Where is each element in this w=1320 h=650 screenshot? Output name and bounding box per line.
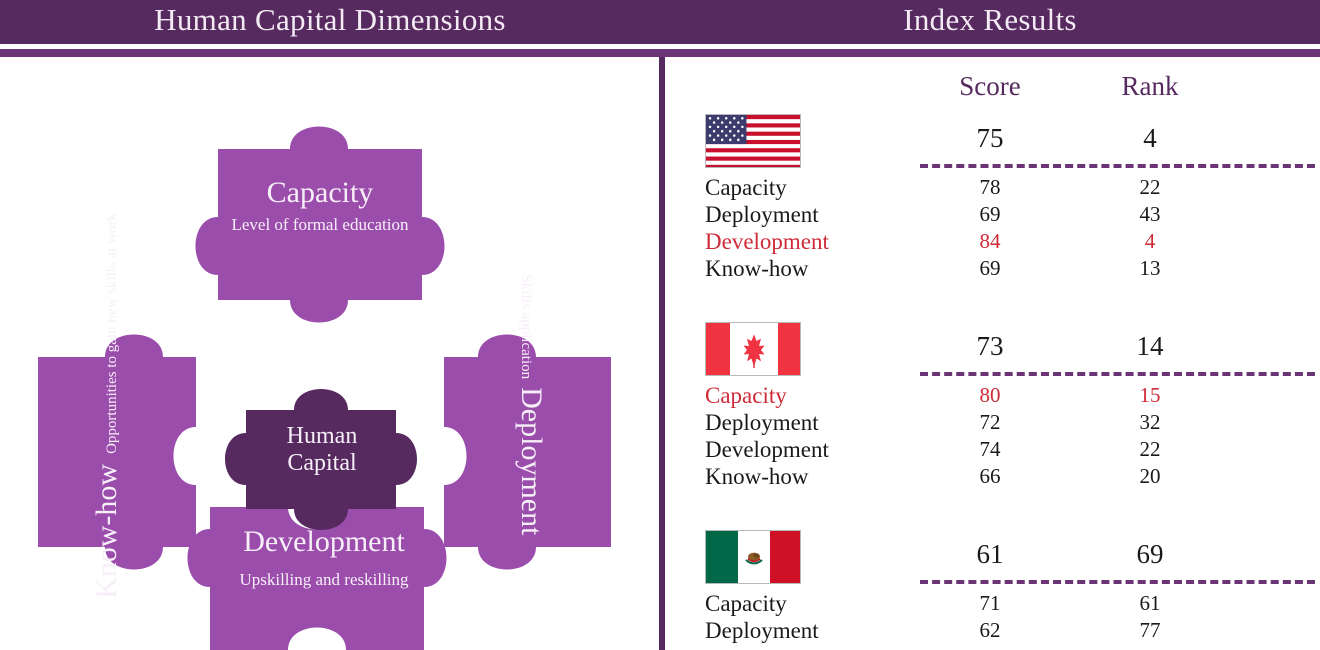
row-rank: 13 <box>1090 256 1210 281</box>
total-score-canada: 73 <box>930 331 1050 362</box>
row-rank: 43 <box>1090 202 1210 227</box>
puzzle-piece-capacity[interactable] <box>196 127 445 323</box>
table-row[interactable]: Know-how 69 13 <box>665 256 1320 283</box>
column-header-rank: Rank <box>1090 71 1210 102</box>
header-band: Human Capital Dimensions Index Results <box>0 0 1320 44</box>
row-score: 69 <box>930 256 1050 281</box>
table-row[interactable]: Know-how 66 20 <box>665 464 1320 491</box>
piece-label-deployment-subtitle: Skills application <box>518 275 535 380</box>
header-rule <box>0 49 1320 57</box>
row-label: Capacity <box>705 383 787 409</box>
row-label: Know-how <box>705 464 809 490</box>
row-score: 69 <box>930 202 1050 227</box>
dimension-rows-mexico: Capacity 71 61 Deployment 62 77 <box>665 591 1320 645</box>
total-score-united-states: 75 <box>930 123 1050 154</box>
row-score: 71 <box>930 591 1050 616</box>
table-row[interactable]: Development 74 22 <box>665 437 1320 464</box>
row-score: 80 <box>930 383 1050 408</box>
row-rank: 22 <box>1090 437 1210 462</box>
piece-label-know-how: Know-how Opportunities to gain new skill… <box>90 271 130 541</box>
dimension-rows-canada: Capacity 80 15 Deployment 72 32 Developm… <box>665 383 1320 491</box>
row-rank: 22 <box>1090 175 1210 200</box>
dimension-rows-united-states: Capacity 78 22 Deployment 69 43 Developm… <box>665 175 1320 283</box>
row-rank: 32 <box>1090 410 1210 435</box>
total-rank-united-states: 4 <box>1090 123 1210 154</box>
total-rank-canada: 14 <box>1090 331 1210 362</box>
table-row[interactable]: Deployment 72 32 <box>665 410 1320 437</box>
column-header-score: Score <box>930 71 1050 102</box>
row-label: Deployment <box>705 410 819 436</box>
row-rank: 4 <box>1090 229 1210 254</box>
piece-label-know-how-subtitle: Opportunities to gain new skills at work <box>104 213 121 454</box>
row-label: Deployment <box>705 618 819 644</box>
table-row[interactable]: Deployment 69 43 <box>665 202 1320 229</box>
total-score-mexico: 61 <box>930 539 1050 570</box>
total-rank-mexico: 69 <box>1090 539 1210 570</box>
row-score: 66 <box>930 464 1050 489</box>
row-label: Capacity <box>705 591 787 617</box>
puzzle-piece-human-capital-core[interactable] <box>225 389 417 530</box>
row-rank: 15 <box>1090 383 1210 408</box>
table-row[interactable]: Capacity 78 22 <box>665 175 1320 202</box>
row-score: 74 <box>930 437 1050 462</box>
index-results-panel: Score Rank <box>665 57 1320 650</box>
human-capital-dimensions-panel: Capacity Level of formal education Devel… <box>0 57 659 650</box>
row-rank: 20 <box>1090 464 1210 489</box>
divider-dashed-mexico <box>920 580 1315 584</box>
page-title-right: Index Results <box>660 0 1320 42</box>
table-row[interactable]: Capacity 71 61 <box>665 591 1320 618</box>
row-score: 72 <box>930 410 1050 435</box>
row-score: 62 <box>930 618 1050 643</box>
piece-label-deployment-title: Deployment <box>514 387 548 535</box>
row-label: Capacity <box>705 175 787 201</box>
canada-flag <box>705 322 801 376</box>
divider-dashed-united-states <box>920 164 1315 168</box>
row-score: 78 <box>930 175 1050 200</box>
row-score: 84 <box>930 229 1050 254</box>
piece-label-deployment: Deployment Skills application <box>508 270 548 540</box>
row-label: Know-how <box>705 256 809 282</box>
divider-dashed-canada <box>920 372 1315 376</box>
row-rank: 61 <box>1090 591 1210 616</box>
page-title-left: Human Capital Dimensions <box>0 0 660 42</box>
row-label: Development <box>705 437 829 463</box>
table-row[interactable]: Deployment 62 77 <box>665 618 1320 645</box>
row-label: Deployment <box>705 202 819 228</box>
mexico-flag <box>705 530 801 584</box>
table-row[interactable]: Capacity 80 15 <box>665 383 1320 410</box>
table-row[interactable]: Development 84 4 <box>665 229 1320 256</box>
united-states-flag <box>705 114 801 168</box>
piece-label-know-how-title: Know-how <box>90 464 124 599</box>
row-rank: 77 <box>1090 618 1210 643</box>
row-label: Development <box>705 229 829 255</box>
